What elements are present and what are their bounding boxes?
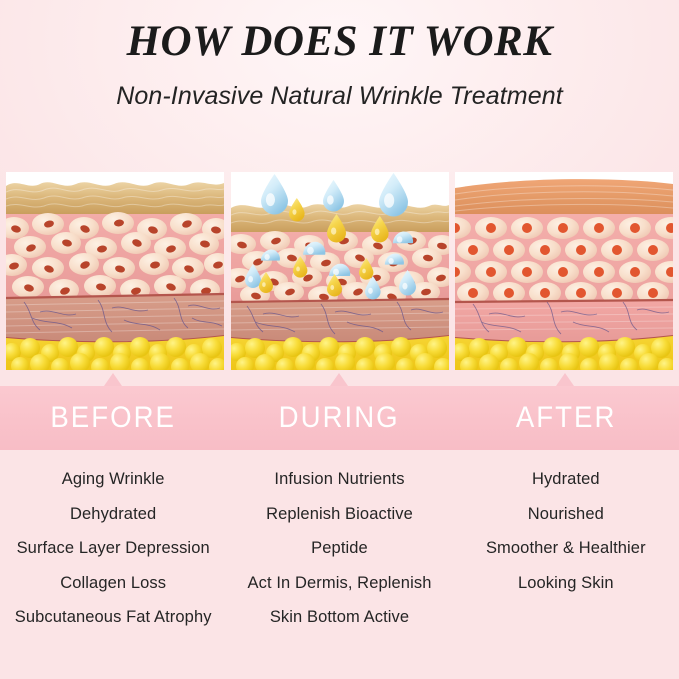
list-column-after: Hydrated Nourished Smoother & Healthier … — [453, 468, 679, 668]
pointer-after — [556, 373, 574, 386]
list-item: Act In Dermis, Replenish — [226, 575, 452, 592]
pointer-before — [104, 373, 122, 386]
benefit-lists: Aging Wrinkle Dehydrated Surface Layer D… — [0, 468, 679, 668]
list-item: Nourished — [453, 506, 679, 523]
page-subtitle: Non-Invasive Natural Wrinkle Treatment — [0, 82, 679, 111]
list-item: Looking Skin — [453, 575, 679, 592]
before-illustration — [6, 172, 224, 370]
banner-label-before: BEFORE — [9, 401, 217, 435]
list-item: Hydrated — [453, 471, 679, 488]
list-item: Surface Layer Depression — [0, 540, 226, 557]
list-item: Smoother & Healthier — [453, 540, 679, 557]
page-title: HOW DOES IT WORK — [0, 19, 679, 64]
list-item: Skin Bottom Active — [226, 609, 452, 626]
list-item: Aging Wrinkle — [0, 471, 226, 488]
banner-label-during: DURING — [235, 401, 443, 435]
skin-cross-section-before — [6, 172, 224, 370]
stage-banner: BEFORE DURING AFTER — [0, 386, 679, 450]
list-item: Dehydrated — [0, 506, 226, 523]
list-item: Infusion Nutrients — [226, 471, 452, 488]
skin-cross-section-after — [455, 172, 673, 370]
skin-cross-section-during — [231, 172, 449, 370]
pointer-during — [330, 373, 348, 386]
panel-row — [0, 172, 679, 372]
list-column-during: Infusion Nutrients Replenish Bioactive P… — [226, 468, 452, 668]
during-illustration — [231, 172, 449, 370]
list-item: Collagen Loss — [0, 575, 226, 592]
list-item: Replenish Bioactive — [226, 506, 452, 523]
infographic-page: HOW DOES IT WORK Non-Invasive Natural Wr… — [0, 0, 679, 679]
list-item: Peptide — [226, 540, 452, 557]
list-item: Subcutaneous Fat Atrophy — [0, 609, 226, 626]
banner-label-after: AFTER — [462, 401, 670, 435]
list-column-before: Aging Wrinkle Dehydrated Surface Layer D… — [0, 468, 226, 668]
header: HOW DOES IT WORK Non-Invasive Natural Wr… — [0, 0, 679, 111]
after-illustration — [455, 172, 673, 370]
